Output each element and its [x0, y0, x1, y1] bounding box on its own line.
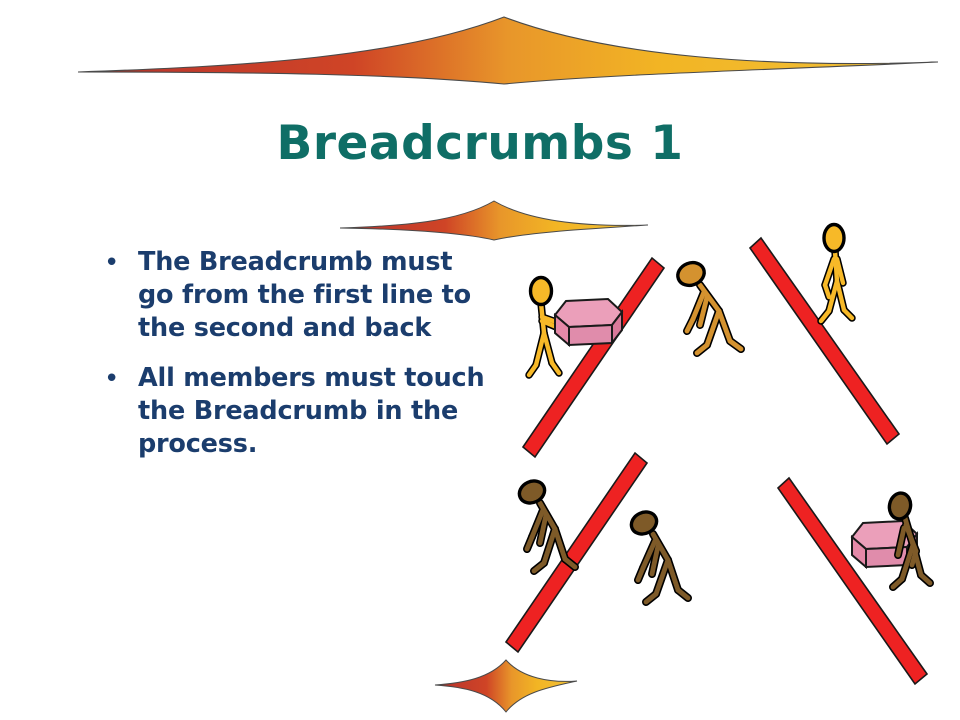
bullet-text: All members must touch the Breadcrumb in… — [138, 362, 496, 461]
figure-ochre-bending — [674, 259, 741, 353]
line-upper-right — [750, 238, 899, 444]
bullet-text: The Breadcrumb must go from the first li… — [138, 246, 496, 345]
bullet-list: • The Breadcrumb must go from the first … — [96, 246, 496, 478]
top-ornament — [70, 10, 945, 90]
figure-head — [887, 491, 913, 521]
bullet-marker: • — [96, 246, 138, 280]
breadcrumb-box-upper — [555, 299, 622, 345]
page-title: Breadcrumbs 1 — [0, 118, 960, 170]
figure-head — [531, 278, 552, 305]
figure-brown-bending-1 — [516, 477, 575, 571]
breadcrumbs-illustration — [495, 215, 960, 720]
figure-brown-bending-2 — [628, 508, 688, 602]
figure-gold-walking — [821, 225, 852, 322]
figure-head — [824, 225, 844, 252]
bullet-marker: • — [96, 362, 138, 396]
list-item: • The Breadcrumb must go from the first … — [96, 246, 496, 345]
slide-canvas: Breadcrumbs 1 • The Breadcrumb must go f… — [0, 0, 960, 720]
list-item: • All members must touch the Breadcrumb … — [96, 362, 496, 461]
